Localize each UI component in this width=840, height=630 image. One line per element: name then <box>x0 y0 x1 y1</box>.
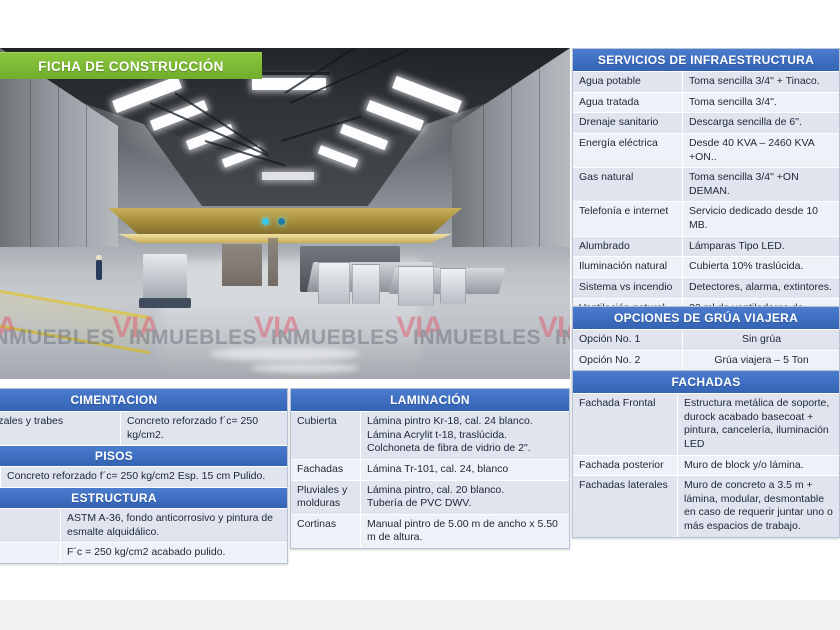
crate <box>398 266 434 306</box>
table-row: Drenaje sanitarioDescarga sencilla de 6"… <box>573 112 839 133</box>
foundation-header: CIMENTACION <box>0 389 287 411</box>
table-row: Telefonía e internetServicio dedicado de… <box>573 201 839 235</box>
table-row: CortinasManual pintro de 5.00 m de ancho… <box>291 514 569 548</box>
row-label: Drenaje sanitario <box>573 113 683 133</box>
row-label: Fachadas laterales <box>573 476 678 537</box>
row-label: Concreto <box>0 543 61 563</box>
table-row: Agua potableToma sencilla 3/4" + Tinaco. <box>573 71 839 92</box>
table-row: Pilas, cabezales y trabesConcreto reforz… <box>0 411 287 445</box>
crane-options-header: OPCIONES DE GRÚA VIAJERA <box>573 307 839 329</box>
row-value: Grúa viajera – 5 Ton <box>683 351 839 371</box>
row-value: Muro de block y/o lámina. <box>678 456 839 476</box>
forklift <box>143 254 187 300</box>
row-label: Fachada Frontal <box>573 394 678 455</box>
row-label: Opción No. 2 <box>573 351 683 371</box>
table-row: Fachada posteriorMuro de block y/o lámin… <box>573 455 839 476</box>
crane-rail <box>118 234 452 243</box>
row-value: Manual pintro de 5.00 m de ancho x 5.50 … <box>361 515 569 548</box>
table-row: Agua tratadaToma sencilla 3/4". <box>573 92 839 113</box>
table-row: AlumbradoLámparas Tipo LED. <box>573 236 839 257</box>
crate <box>352 264 380 304</box>
bottom-band <box>0 600 840 630</box>
structure-rows: AceroASTM A-36, fondo anticorrosivo y pi… <box>0 508 287 563</box>
row-value: Lámparas Tipo LED. <box>683 237 839 257</box>
table-row: Opción No. 2Grúa viajera – 5 Ton <box>573 350 839 371</box>
construction-spec-sheet: FICHA DE CONSTRUCCIÓN VIA INMUEBLES VIA … <box>0 0 840 630</box>
row-value: Sin grúa <box>683 330 839 350</box>
row-value: Toma sencilla 3/4" +ON DEMAN. <box>683 168 839 201</box>
infrastructure-services-table: SERVICIOS DE INFRAESTRUCTURA Agua potabl… <box>572 48 840 347</box>
floors-rows: FirmeConcreto reforzado f´c= 250 kg/cm2 … <box>0 466 287 487</box>
row-label: Agua potable <box>573 72 683 92</box>
floor-highlight <box>210 347 360 361</box>
structure-header: ESTRUCTURA <box>0 487 287 508</box>
row-label: Fachada posterior <box>573 456 678 476</box>
table-row: Fachada FrontalEstructura metálica de so… <box>573 393 839 455</box>
row-value: F´c = 250 kg/cm2 acabado pulido. <box>61 543 287 563</box>
row-label: Pilas, cabezales y trabes <box>0 412 121 445</box>
storage-rack <box>222 244 262 286</box>
warehouse-interior-image <box>0 48 570 379</box>
table-row: Energía eléctricaDesde 40 KVA – 2460 KVA… <box>573 133 839 167</box>
table-row: FirmeConcreto reforzado f´c= 250 kg/cm2 … <box>0 466 287 487</box>
lamination-table: LAMINACIÓN CubiertaLámina pintro Kr-18, … <box>290 388 570 549</box>
lamination-header: LAMINACIÓN <box>291 389 569 411</box>
row-value: Cubierta 10% traslúcida. <box>683 257 839 277</box>
row-label: Acero <box>0 509 61 542</box>
page-title-banner: FICHA DE CONSTRUCCIÓN <box>0 52 262 79</box>
row-label: Energía eléctrica <box>573 134 683 167</box>
table-row: Opción No. 1Sin grúa <box>573 329 839 350</box>
facades-header: FACHADAS <box>573 371 839 393</box>
skylight-strip <box>262 172 314 180</box>
table-row: Sistema vs incendioDetectores, alarma, e… <box>573 277 839 298</box>
row-value: Toma sencilla 3/4". <box>683 93 839 113</box>
foundation-floors-structure-table: CIMENTACION Pilas, cabezales y trabesCon… <box>0 388 288 564</box>
row-value: Muro de concreto a 3.5 m + lámina, modul… <box>678 476 839 537</box>
table-row: ConcretoF´c = 250 kg/cm2 acabado pulido. <box>0 542 287 563</box>
row-label: Cortinas <box>291 515 361 548</box>
facades-rows: Fachada FrontalEstructura metálica de so… <box>573 393 839 537</box>
row-value: Concreto reforzado f´c= 250 kg/cm2. <box>121 412 287 445</box>
row-value: Descarga sencilla de 6". <box>683 113 839 133</box>
floors-header: PISOS <box>0 445 287 466</box>
row-value: ASTM A-36, fondo anticorrosivo y pintura… <box>61 509 287 542</box>
row-label: Cubierta <box>291 412 361 459</box>
worker-figure <box>96 260 102 280</box>
row-value: Concreto reforzado f´c= 250 kg/cm2 Esp. … <box>1 467 287 487</box>
row-value: Lámina pintro, cal. 20 blanco.Tubería de… <box>361 481 569 514</box>
row-label: Iluminación natural <box>573 257 683 277</box>
crane-light <box>278 218 285 225</box>
row-value: Toma sencilla 3/4" + Tinaco. <box>683 72 839 92</box>
foundation-rows: Pilas, cabezales y trabesConcreto reforz… <box>0 411 287 445</box>
row-label: Opción No. 1 <box>573 330 683 350</box>
row-value: Detectores, alarma, extintores. <box>683 278 839 298</box>
crate <box>318 262 350 304</box>
lamination-rows: CubiertaLámina pintro Kr-18, cal. 24 bla… <box>291 411 569 548</box>
table-row: Pluviales y moldurasLámina pintro, cal. … <box>291 480 569 514</box>
table-row: AceroASTM A-36, fondo anticorrosivo y pi… <box>0 508 287 542</box>
page-title: FICHA DE CONSTRUCCIÓN <box>38 59 224 74</box>
row-value: Servicio dedicado desde 10 MB. <box>683 202 839 235</box>
row-label: Agua tratada <box>573 93 683 113</box>
row-value: Lámina Tr-101, cal. 24, blanco <box>361 460 569 480</box>
row-label: Pluviales y molduras <box>291 481 361 514</box>
row-label: Gas natural <box>573 168 683 201</box>
row-value: Lámina pintro Kr-18, cal. 24 blanco.Lámi… <box>361 412 569 459</box>
floor-highlight <box>250 363 360 373</box>
crate <box>440 268 466 304</box>
table-row: FachadasLámina Tr-101, cal. 24, blanco <box>291 459 569 480</box>
row-value: Desde 40 KVA – 2460 KVA +ON.. <box>683 134 839 167</box>
row-label: Telefonía e internet <box>573 202 683 235</box>
row-value: Estructura metálica de soporte, durock a… <box>678 394 839 455</box>
table-row: Iluminación naturalCubierta 10% traslúci… <box>573 256 839 277</box>
storage-rack <box>268 238 278 286</box>
table-row: CubiertaLámina pintro Kr-18, cal. 24 bla… <box>291 411 569 459</box>
table-row: Fachadas lateralesMuro de concreto a 3.5… <box>573 475 839 537</box>
infrastructure-header: SERVICIOS DE INFRAESTRUCTURA <box>573 49 839 71</box>
row-label: Sistema vs incendio <box>573 278 683 298</box>
infrastructure-rows: Agua potableToma sencilla 3/4" + Tinaco.… <box>573 71 839 346</box>
row-label: Alumbrado <box>573 237 683 257</box>
crane-light <box>262 218 269 225</box>
table-row: Gas naturalToma sencilla 3/4" +ON DEMAN. <box>573 167 839 201</box>
row-label: Fachadas <box>291 460 361 480</box>
facades-table: FACHADAS Fachada FrontalEstructura metál… <box>572 370 840 538</box>
